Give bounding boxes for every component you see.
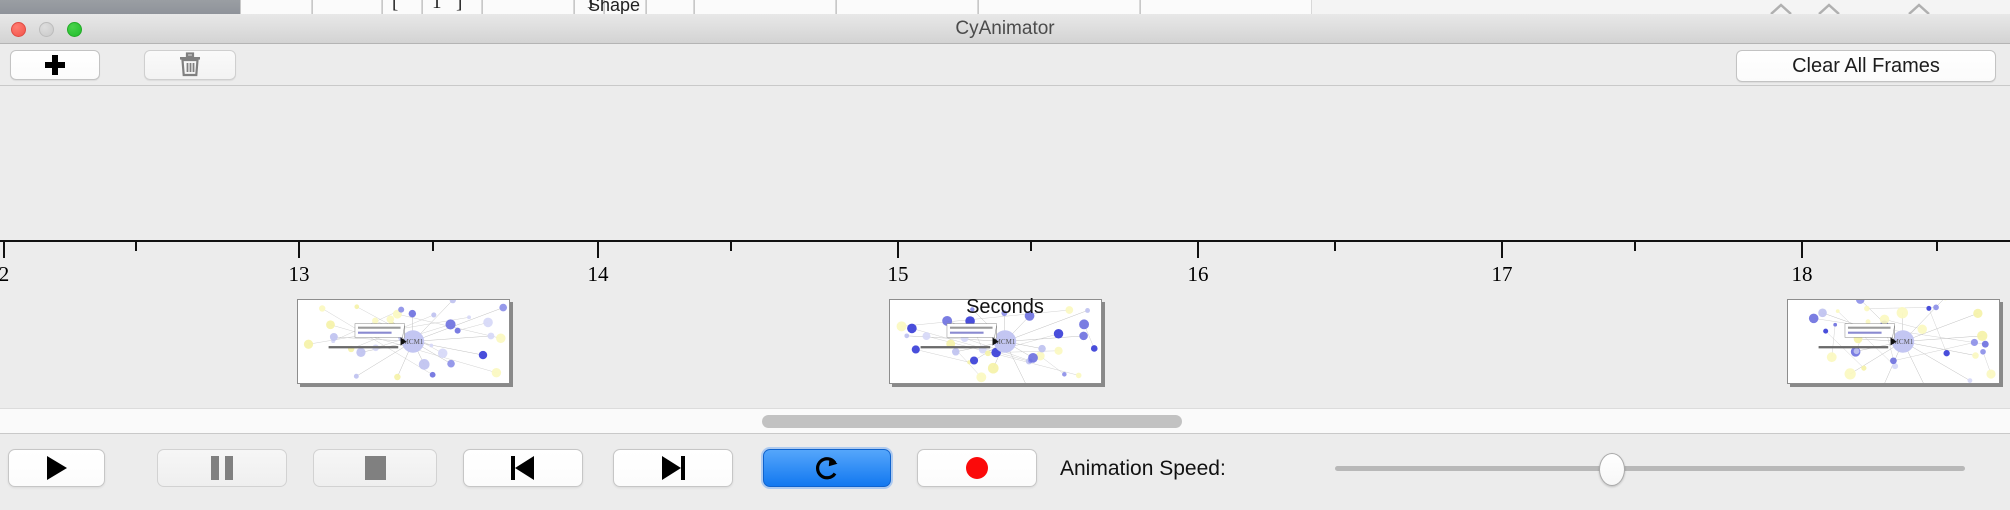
background-table-cell	[382, 0, 422, 14]
background-table-cell	[422, 0, 482, 14]
clear-all-frames-button[interactable]: Clear All Frames	[1736, 50, 1996, 82]
axis-tick-minor	[135, 242, 137, 251]
skip-back-icon	[510, 456, 536, 480]
axis-tick-major	[1801, 242, 1803, 258]
playback-controls: Animation Speed:	[0, 435, 2010, 510]
axis-tick-label: 14	[588, 262, 609, 287]
axis-tick-label: 17	[1492, 262, 1513, 287]
skip-forward-icon	[660, 456, 686, 480]
axis-tick-minor	[1334, 242, 1336, 251]
svg-text:MCM1: MCM1	[995, 338, 1016, 346]
animation-speed-label: Animation Speed:	[1060, 457, 1226, 481]
axis-tick-label: 15	[888, 262, 909, 287]
axis-tick-minor	[1936, 242, 1938, 251]
axis-tick-label: 18	[1792, 262, 1813, 287]
axis-tick-minor	[1634, 242, 1636, 251]
background-glyph: ]	[456, 0, 462, 14]
pause-button[interactable]	[157, 449, 287, 487]
background-table-cell	[240, 0, 312, 14]
svg-text:MCM1: MCM1	[1893, 338, 1914, 346]
background-table-cell	[482, 0, 574, 14]
background-glyph: 1	[432, 0, 442, 14]
record-button[interactable]	[917, 449, 1037, 487]
background-table-cell	[312, 0, 382, 14]
background-table-cell	[836, 0, 978, 14]
background-table-cell	[978, 0, 1140, 14]
timeline-scrollbar-thumb[interactable]	[762, 415, 1182, 428]
loop-icon	[812, 453, 842, 483]
record-icon	[966, 457, 988, 479]
background-window-header	[0, 0, 240, 14]
background-chevron-icon	[1908, 2, 1930, 14]
frame-toolbar: Clear All Frames	[0, 44, 2010, 86]
slider-track	[1335, 466, 1965, 471]
timeline-axis-title: Seconds	[0, 296, 2010, 319]
axis-tick-major	[298, 242, 300, 258]
pause-icon	[211, 456, 233, 480]
axis-tick-label: 13	[289, 262, 310, 287]
axis-tick-minor	[1030, 242, 1032, 251]
plus-icon	[45, 55, 65, 75]
svg-text:MCM1: MCM1	[403, 338, 424, 346]
add-frame-button[interactable]	[10, 50, 100, 80]
axis-tick-major	[1501, 242, 1503, 258]
delete-frame-button[interactable]	[144, 50, 236, 80]
axis-tick-minor	[432, 242, 434, 251]
trash-icon	[178, 52, 202, 78]
background-chevron-icon	[1770, 2, 1792, 14]
animation-speed-slider[interactable]	[1335, 449, 1965, 487]
slider-thumb[interactable]	[1599, 453, 1625, 486]
background-glyph: [	[392, 0, 398, 14]
axis-tick-label: 2	[0, 262, 9, 287]
window-titlebar: CyAnimator	[0, 14, 2010, 44]
loop-button[interactable]	[763, 449, 891, 487]
axis-tick-minor	[730, 242, 732, 251]
play-button[interactable]	[8, 449, 105, 487]
background-window-strip: [1]1 Shape	[0, 0, 2010, 14]
stop-button[interactable]	[313, 449, 437, 487]
axis-tick-major	[1197, 242, 1199, 258]
skip-to-end-button[interactable]	[613, 449, 733, 487]
background-chevron-icon	[1818, 2, 1840, 14]
background-shape-label: Shape	[588, 0, 640, 14]
axis-tick-major	[3, 242, 5, 258]
background-table-cell	[1140, 0, 1312, 14]
axis-tick-label: 16	[1188, 262, 1209, 287]
background-table-cell	[646, 0, 694, 14]
play-icon	[47, 456, 67, 480]
skip-to-start-button[interactable]	[463, 449, 583, 487]
axis-tick-major	[597, 242, 599, 258]
background-table-cell	[694, 0, 836, 14]
window-title: CyAnimator	[0, 14, 2010, 44]
timeline-scrollbar[interactable]	[0, 408, 2010, 434]
timeline-panel[interactable]: MCM1MCM1MCM1 2131415161718 Seconds	[0, 86, 2010, 406]
stop-icon	[365, 456, 386, 480]
timeline-axis-line	[0, 240, 2010, 242]
axis-tick-major	[897, 242, 899, 258]
clear-all-frames-label: Clear All Frames	[1792, 55, 1940, 78]
